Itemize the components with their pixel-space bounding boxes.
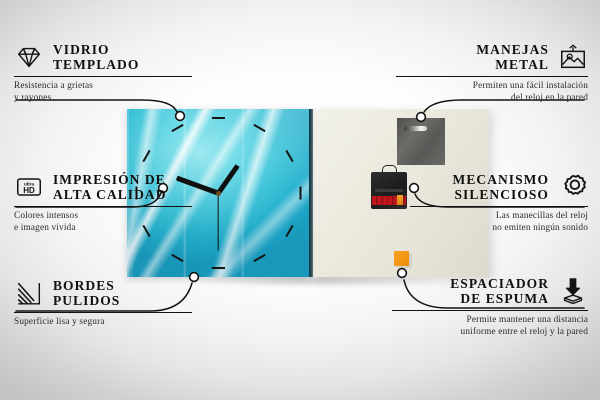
clock-second-hand bbox=[217, 193, 218, 251]
clock-glass-edge bbox=[309, 109, 313, 277]
clock-tick bbox=[212, 117, 225, 119]
ultra-hd-badge-icon: ultra HD bbox=[14, 172, 44, 202]
foam-spacer-pad bbox=[394, 251, 409, 266]
hanger-slot bbox=[404, 126, 427, 131]
battery-pull-tab bbox=[397, 195, 403, 205]
feature-title: MECANISMO SILENCIOSO bbox=[453, 172, 549, 202]
feature-tempered-glass: VIDRIO TEMPLADO Resistencia a grietas y … bbox=[14, 42, 192, 104]
gear-icon bbox=[558, 172, 588, 202]
svg-text:HD: HD bbox=[23, 186, 35, 195]
feature-silent-mechanism: MECANISMO SILENCIOSO Las manecillas del … bbox=[410, 172, 588, 234]
feature-header: VIDRIO TEMPLADO bbox=[14, 42, 192, 72]
feature-metal-handles: MANEJAS METAL Permiten una fácil instala… bbox=[396, 42, 588, 104]
feature-subtitle: Permite mantener una distancia uniforme … bbox=[392, 315, 588, 338]
mechanism-detail-bar bbox=[375, 189, 403, 192]
infographic-stage: VIDRIO TEMPLADO Resistencia a grietas y … bbox=[0, 0, 600, 400]
polished-edges-icon bbox=[14, 278, 44, 308]
clock-tick bbox=[212, 267, 225, 269]
feature-subtitle: Permiten una fácil instalación del reloj… bbox=[396, 81, 588, 104]
diamond-icon bbox=[14, 42, 44, 72]
feature-subtitle: Resistencia a grietas y rayones bbox=[14, 81, 192, 104]
feature-divider bbox=[410, 206, 588, 207]
clock-tick bbox=[299, 187, 301, 200]
feature-title: IMPRESIÓN DE ALTA CALIDAD bbox=[53, 172, 167, 202]
feature-polished-edges: BORDES PULIDOS Superficie lisa y segura bbox=[14, 278, 192, 329]
feature-divider bbox=[396, 76, 588, 77]
feature-subtitle: Las manecillas del reloj no emiten ningú… bbox=[410, 211, 588, 234]
feature-header: MECANISMO SILENCIOSO bbox=[410, 172, 588, 202]
feature-divider bbox=[14, 312, 192, 313]
foam-spacer-arrow-icon bbox=[558, 276, 588, 306]
feature-title: MANEJAS METAL bbox=[476, 42, 549, 72]
feature-title: VIDRIO TEMPLADO bbox=[53, 42, 139, 72]
clock-center-cap bbox=[216, 191, 221, 196]
feature-divider bbox=[392, 310, 588, 311]
feature-high-quality-print: ultra HD IMPRESIÓN DE ALTA CALIDAD Color… bbox=[14, 172, 192, 234]
feature-header: MANEJAS METAL bbox=[396, 42, 588, 72]
feature-header: ESPACIADOR DE ESPUMA bbox=[392, 276, 588, 306]
feature-divider bbox=[14, 206, 192, 207]
picture-hanger-icon bbox=[558, 42, 588, 72]
feature-title: BORDES PULIDOS bbox=[53, 278, 120, 308]
feature-header: ultra HD IMPRESIÓN DE ALTA CALIDAD bbox=[14, 172, 192, 202]
feature-subtitle: Colores intensos e imagen vívida bbox=[14, 211, 192, 234]
feature-foam-spacer: ESPACIADOR DE ESPUMA Permite mantener un… bbox=[392, 276, 588, 338]
feature-header: BORDES PULIDOS bbox=[14, 278, 192, 308]
feature-title: ESPACIADOR DE ESPUMA bbox=[450, 276, 549, 306]
feature-divider bbox=[14, 76, 192, 77]
feature-subtitle: Superficie lisa y segura bbox=[14, 317, 192, 329]
